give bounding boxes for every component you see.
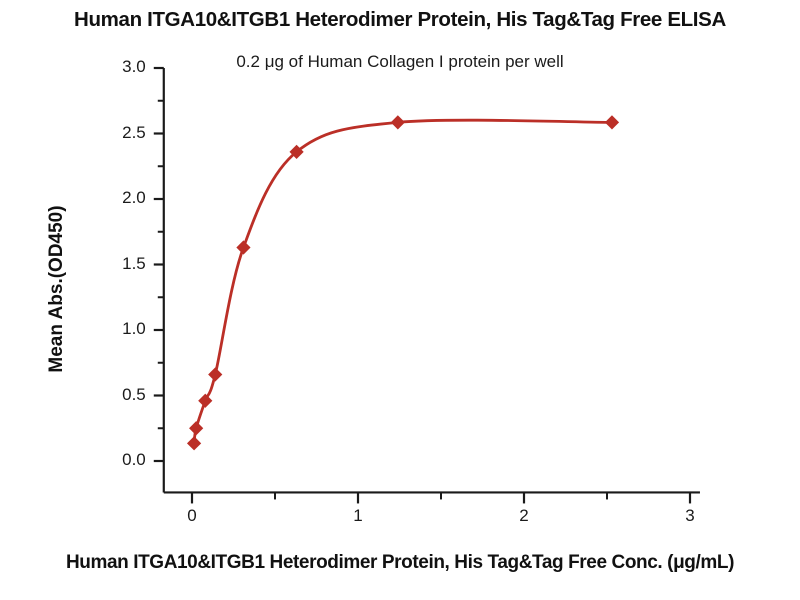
data-point-markers (188, 116, 619, 450)
x-tick-label: 1 (338, 506, 378, 526)
y-tick-label: 1.5 (100, 254, 146, 274)
data-point-marker-4 (237, 241, 250, 254)
data-point-marker-3 (209, 368, 222, 381)
fit-curve (194, 120, 612, 443)
elisa-chart-figure: Human ITGA10&ITGB1 Heterodimer Protein, … (0, 0, 800, 600)
data-point-marker-7 (606, 116, 619, 129)
fit-curve-line (194, 120, 612, 443)
y-tick-label: 0.5 (100, 385, 146, 405)
data-point-marker-2 (199, 394, 212, 407)
data-point-marker-6 (391, 116, 404, 129)
x-tick-label: 3 (670, 506, 710, 526)
y-axis-ticks (154, 68, 164, 461)
x-tick-label: 0 (172, 506, 212, 526)
x-tick-label: 2 (504, 506, 544, 526)
data-point-marker-0 (188, 437, 201, 450)
x-axis-ticks (192, 492, 690, 503)
y-tick-label: 2.5 (100, 123, 146, 143)
y-tick-label: 1.0 (100, 319, 146, 339)
y-tick-label: 0.0 (100, 450, 146, 470)
data-point-marker-1 (190, 422, 203, 435)
y-tick-label: 2.0 (100, 188, 146, 208)
y-tick-label: 3.0 (100, 57, 146, 77)
axes (164, 68, 700, 492)
